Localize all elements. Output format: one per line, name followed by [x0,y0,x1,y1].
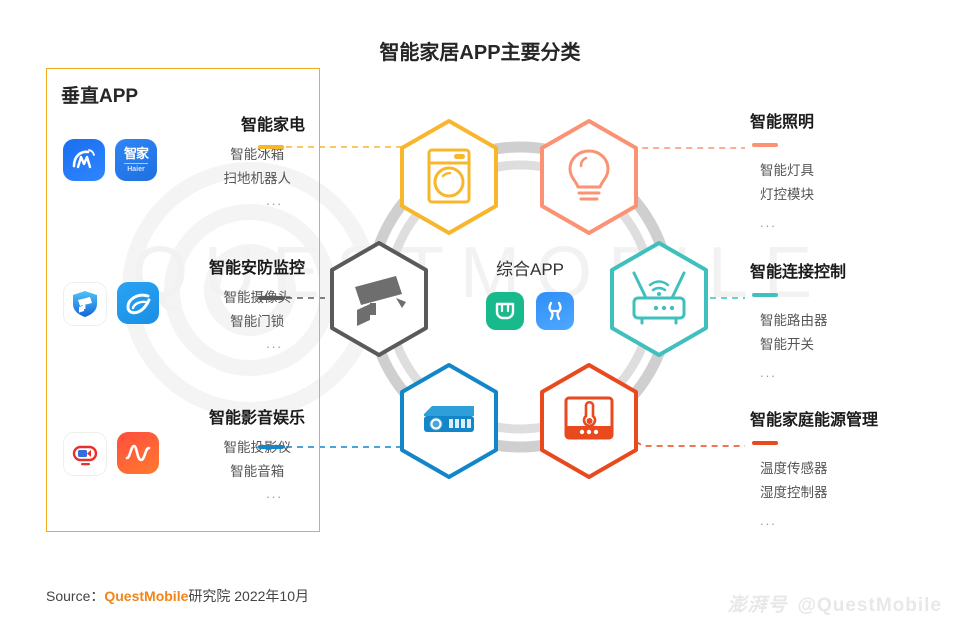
accent-bar-appliance [258,145,284,149]
right-group-item: 温度传感器 [760,457,878,481]
projector-app-icon[interactable] [63,432,107,476]
accent-bar-security [258,296,284,300]
right-group-lighting: 智能照明 智能灯具 灯控模块 ... [750,108,814,230]
security-camera-app-icon[interactable] [63,282,107,326]
right-group-ellipsis: ... [760,215,814,230]
right-group-item: 智能灯具 [760,159,814,183]
haier-smart-home-app-icon[interactable]: 智家 Haier [115,139,157,181]
page-title: 智能家居APP主要分类 [0,36,960,65]
category-items: 智能投影仪 智能音箱 [224,436,292,484]
category-item: 智能音箱 [224,460,292,484]
right-group-title: 智能照明 [750,108,814,132]
vertical-app-panel: 垂直APP 智能家电 智家 Haier [46,68,320,532]
right-group-ellipsis: ... [760,513,878,528]
mi-home-glyph [493,299,517,323]
hexagon-smart-appliance[interactable] [396,118,502,236]
footer-watermark-cn: 澎湃号 [727,595,787,616]
right-group-items: 智能灯具 灯控模块 [760,159,814,207]
right-group-title: 智能家庭能源管理 [750,406,878,430]
camera-shield-glyph [69,288,101,320]
category-ellipsis: ... [266,336,283,351]
accent-bar-connectivity [752,293,778,297]
category-item: 扫地机器人 [224,167,292,191]
center-label: 综合APP [440,255,620,280]
hexagon-security-monitoring[interactable] [326,240,432,358]
right-group-item: 灯控模块 [760,183,814,207]
huawei-hilink-app-icon[interactable] [536,292,574,330]
right-group-items: 温度传感器 湿度控制器 [760,457,878,505]
center-app-icons [440,292,620,330]
mi-home-app-icon[interactable] [486,292,524,330]
midea-glyph [69,145,99,175]
hexagon-av-entertainment[interactable] [396,362,502,480]
haier-glyph: 智家 Haier [124,147,148,173]
hexagon-smart-connectivity[interactable] [606,240,712,358]
accent-bar-lighting [752,143,778,147]
hexagon-home-energy[interactable] [536,362,642,480]
projector-glyph [69,438,101,470]
category-app-icons: 智家 Haier [63,139,157,181]
source-prefix: Source： [46,588,104,604]
category-items: 智能冰箱 扫地机器人 [224,143,292,191]
midea-app-icon[interactable] [63,139,105,181]
right-group-item: 智能开关 [760,333,846,357]
footer-watermark: 澎湃号@QuestMobile [727,590,942,617]
category-ellipsis: ... [266,193,283,208]
right-group-item: 智能路由器 [760,309,846,333]
right-group-item: 湿度控制器 [760,481,878,505]
category-title: 智能影音娱乐 [209,404,305,428]
right-group-title: 智能连接控制 [750,258,846,282]
category-app-icons [63,282,159,326]
category-title: 智能安防监控 [209,254,305,278]
footer-watermark-en: @QuestMobile [797,595,942,616]
category-app-icons [63,432,159,476]
vertical-app-panel-title: 垂直APP [61,81,138,108]
right-group-energy: 智能家庭能源管理 温度传感器 湿度控制器 ... [750,406,878,528]
hexagon-smart-lighting[interactable] [536,118,642,236]
infographic-canvas: QUESTMOBILE 智能家居APP主要分类 [0,0,960,626]
category-items: 智能摄像头 智能门锁 [224,286,292,334]
source-brand: QuestMobile [104,588,188,604]
category-ellipsis: ... [266,486,283,501]
ezviz-glyph [122,287,154,319]
right-group-connectivity: 智能连接控制 智能路由器 智能开关 ... [750,258,846,380]
right-group-items: 智能路由器 智能开关 [760,309,846,357]
ezviz-app-icon[interactable] [117,282,159,324]
category-item: 智能门锁 [224,310,292,334]
source-line: Source：QuestMobile研究院 2022年10月 [46,586,309,606]
accent-bar-entertainment [258,445,284,449]
right-group-ellipsis: ... [760,365,846,380]
category-title: 智能家电 [241,111,305,135]
source-suffix: 研究院 2022年10月 [188,588,309,604]
music-wave-app-icon[interactable] [117,432,159,474]
projector-icon [424,406,474,432]
accent-bar-energy [752,441,778,445]
hilink-glyph [543,299,567,323]
wave-glyph [122,437,154,469]
